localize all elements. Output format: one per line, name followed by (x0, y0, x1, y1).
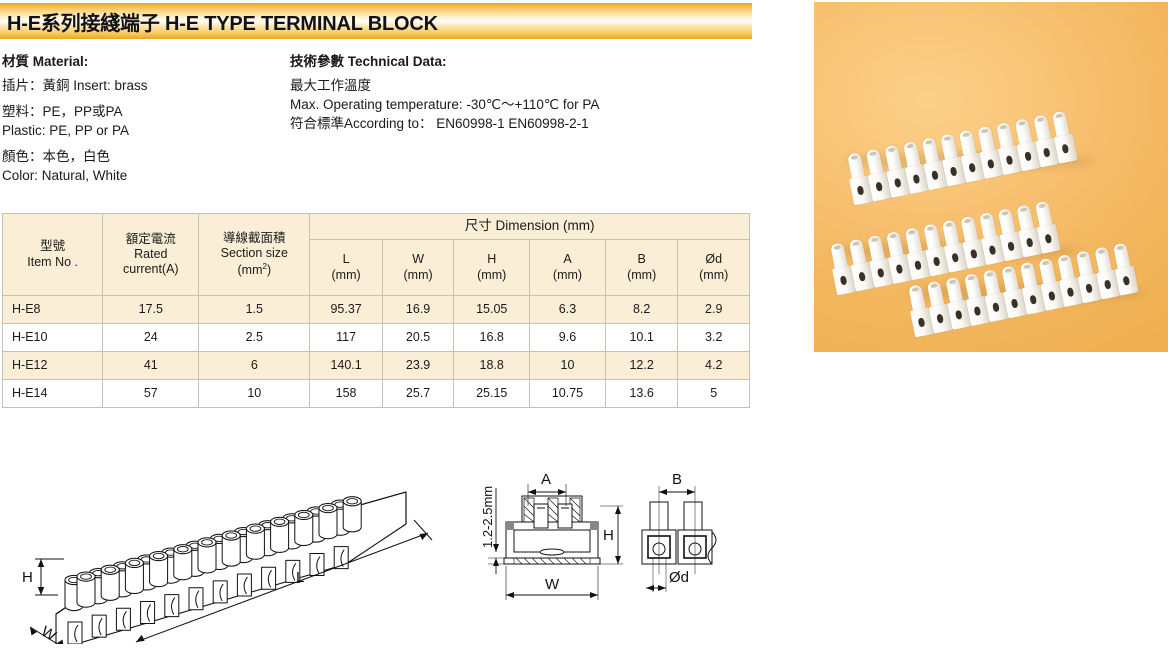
table-body: H-E8 17.5 1.5 95.37 16.9 15.05 6.3 8.2 2… (3, 296, 750, 408)
specification-table: 型號 Item No . 額定電流 Rated current(A) 導線截面積… (2, 213, 750, 408)
terminal-pole (934, 330, 953, 334)
terminal-pole (910, 190, 929, 194)
col-header-H: H (mm) (454, 240, 530, 296)
terminal-pole (837, 292, 856, 296)
cell-Od: 4.2 (678, 352, 750, 380)
max-temp-value: Max. Operating temperature: -30℃～+110℃ f… (290, 96, 720, 115)
cell-W: 20.5 (382, 324, 453, 352)
material-line-plastic-en: Plastic: PE, PP or PA (2, 122, 292, 141)
table-row: H-E8 17.5 1.5 95.37 16.9 15.05 6.3 8.2 2… (3, 296, 750, 324)
cell-A: 10 (530, 352, 606, 380)
material-line-insert: 插片：黃銅 Insert: brass (2, 77, 292, 96)
isometric-drawing: H W L (8, 462, 458, 649)
section-size-unit: (mm2) (238, 263, 272, 277)
col-header-B: B (mm) (605, 240, 678, 296)
section-front-view (504, 496, 600, 564)
cell-H: 25.15 (454, 380, 530, 408)
product-photo (814, 2, 1168, 352)
section-label-wall-thickness: 1.2-2.5mm (480, 486, 495, 548)
terminal-pole (929, 187, 948, 191)
table-header-row-top: 型號 Item No . 額定電流 Rated current(A) 導線截面積… (3, 214, 750, 240)
section-end-view (642, 502, 716, 564)
cell-section-size: 1.5 (199, 296, 310, 324)
section-label-W: W (545, 576, 560, 593)
table-row: H-E14 57 10 158 25.7 25.15 10.75 13.6 5 (3, 380, 750, 408)
terminal-pole (966, 179, 985, 183)
terminal-pole (990, 319, 1009, 323)
cell-item: H-E14 (3, 380, 103, 408)
terminal-pole (1008, 315, 1027, 319)
terminal-pole (875, 284, 894, 288)
cell-L: 158 (310, 380, 383, 408)
cell-item: H-E12 (3, 352, 103, 380)
cell-Od: 5 (678, 380, 750, 408)
terminal-pole (854, 202, 873, 206)
cell-L: 140.1 (310, 352, 383, 380)
col-header-rated-current: 額定電流 Rated current(A) (103, 214, 199, 296)
cell-W: 23.9 (382, 352, 453, 380)
cell-rated-current: 17.5 (103, 296, 199, 324)
terminal-pole (1046, 307, 1065, 311)
max-temp-label-zh: 最大工作溫度 (290, 77, 720, 96)
technical-data-heading: 技術參數 Technical Data: (290, 50, 720, 70)
material-line-color-en: Color: Natural, White (2, 167, 292, 186)
col-header-Od: Ød (mm) (678, 240, 750, 296)
table-row: H-E10 24 2.5 117 20.5 16.8 9.6 10.1 3.2 (3, 324, 750, 352)
material-spec-block: 材質 Material: 插片：黃銅 Insert: brass 塑料：PE，P… (2, 50, 292, 185)
terminal-pole (1064, 303, 1083, 307)
section-label-H: H (603, 527, 614, 544)
cell-Od: 3.2 (678, 324, 750, 352)
cell-A: 6.3 (530, 296, 606, 324)
cell-W: 16.9 (382, 296, 453, 324)
page-title: H-E系列接綫端子 H-E TYPE TERMINAL BLOCK (0, 7, 438, 36)
terminal-pole (873, 198, 892, 202)
iso-label-L: L (296, 569, 304, 586)
col-header-section-size: 導線截面積 Section size (mm2) (199, 214, 310, 296)
terminal-pole (1022, 168, 1041, 172)
page-title-banner: H-E系列接綫端子 H-E TYPE TERMINAL BLOCK (0, 3, 752, 39)
terminal-pole (1083, 300, 1102, 304)
cell-H: 18.8 (454, 352, 530, 380)
terminal-pole (856, 288, 875, 292)
section-label-Od: Ød (669, 569, 689, 586)
col-header-L: L (mm) (310, 240, 383, 296)
terminal-pole (1027, 311, 1046, 315)
cell-B: 13.6 (605, 380, 678, 408)
technical-data-block: 技術參數 Technical Data: 最大工作溫度 Max. Operati… (290, 50, 720, 134)
cell-A: 10.75 (530, 380, 606, 408)
cell-B: 10.1 (605, 324, 678, 352)
cell-H: 15.05 (454, 296, 530, 324)
cell-section-size: 10 (199, 380, 310, 408)
cell-W: 25.7 (382, 380, 453, 408)
col-header-W: W (mm) (382, 240, 453, 296)
section-dimension-W: W (506, 566, 598, 600)
standards-line: 符合標準According to： EN60998-1 EN60998-2-1 (290, 115, 720, 134)
cell-L: 117 (310, 324, 383, 352)
terminal-pole (915, 334, 934, 338)
cell-B: 12.2 (605, 352, 678, 380)
cell-rated-current: 24 (103, 324, 199, 352)
cell-section-size: 2.5 (199, 324, 310, 352)
cell-item: H-E8 (3, 296, 103, 324)
terminal-pole (985, 175, 1004, 179)
cell-H: 16.8 (454, 324, 530, 352)
cell-rated-current: 41 (103, 352, 199, 380)
cell-section-size: 6 (199, 352, 310, 380)
material-heading: 材質 Material: (2, 50, 292, 70)
col-header-item-no: 型號 Item No . (3, 214, 103, 296)
terminal-pole (947, 183, 966, 187)
terminal-strip (844, 107, 1078, 205)
iso-dimension-H: H (22, 559, 64, 595)
cell-A: 9.6 (530, 324, 606, 352)
material-line-plastic-zh: 塑料：PE，PP或PA (2, 103, 292, 122)
section-label-B: B (672, 471, 682, 488)
terminal-pole (892, 194, 911, 198)
cell-Od: 2.9 (678, 296, 750, 324)
section-dimension-H: H (600, 506, 623, 564)
section-drawing: A W H 1.2-2.5mm (470, 462, 730, 643)
cell-L: 95.37 (310, 296, 383, 324)
terminal-pole (971, 322, 990, 326)
table-head: 型號 Item No . 額定電流 Rated current(A) 導線截面積… (3, 214, 750, 296)
terminal-pole (953, 326, 972, 330)
table-row: H-E12 41 6 140.1 23.9 18.8 10 12.2 4.2 (3, 352, 750, 380)
section-label-A: A (541, 471, 551, 488)
material-line-color-zh: 顏色：本色，白色 (2, 148, 292, 167)
cell-rated-current: 57 (103, 380, 199, 408)
cell-item: H-E10 (3, 324, 103, 352)
iso-label-H: H (22, 569, 33, 586)
col-header-A: A (mm) (530, 240, 606, 296)
terminal-pole (1003, 171, 1022, 175)
col-header-dimension-group: 尺寸 Dimension (mm) (310, 214, 750, 240)
cell-B: 8.2 (605, 296, 678, 324)
